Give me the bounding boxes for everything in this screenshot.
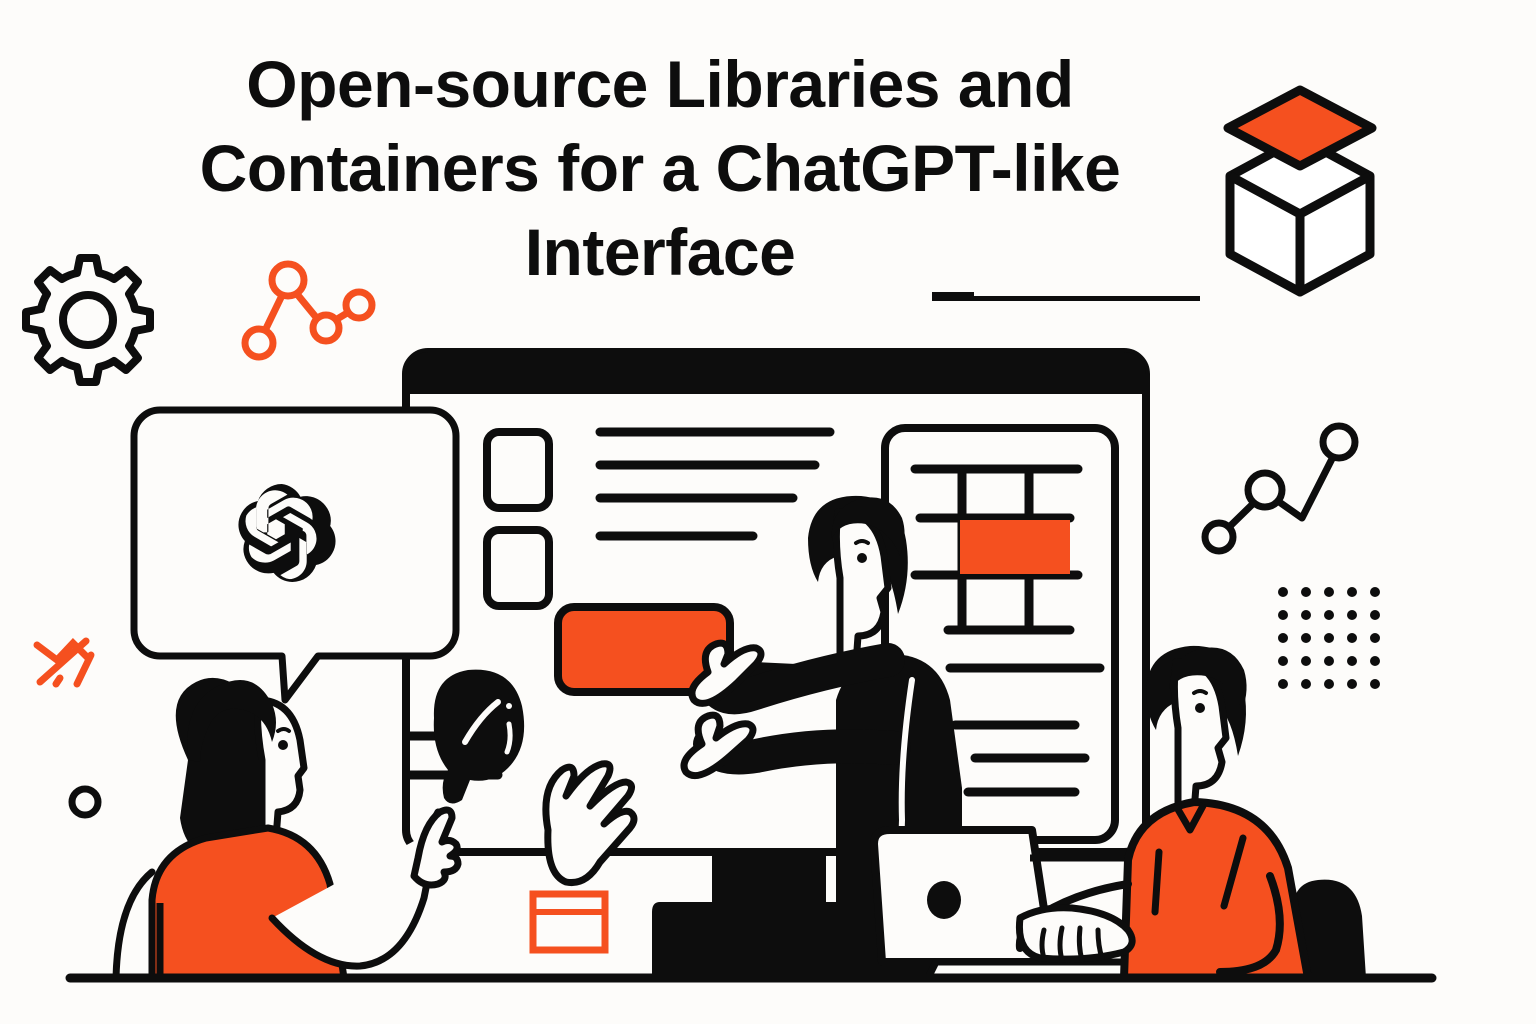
circle-outline-icon xyxy=(72,789,98,815)
grid-highlight-cell xyxy=(960,520,1070,574)
illustration-canvas: Open-source Libraries and Containers for… xyxy=(0,0,1536,1024)
checkbox-placeholder xyxy=(487,530,549,606)
browser-window-icon xyxy=(533,894,605,950)
gesturing-hand xyxy=(546,764,634,883)
page-title-line-3: Interface xyxy=(150,210,1170,294)
node-graph-icon xyxy=(1205,426,1355,551)
container-box-icon xyxy=(1228,90,1372,292)
page-title-line-1: Open-source Libraries and xyxy=(150,42,1170,126)
checkbox-placeholder xyxy=(487,432,549,508)
page-title-line-2: Containers for a ChatGPT-like xyxy=(150,126,1170,210)
page-title: Open-source Libraries and Containers for… xyxy=(150,42,1170,294)
openai-speech-bubble xyxy=(134,410,456,700)
dot-grid-icon xyxy=(1278,587,1380,689)
circle-logo xyxy=(927,881,961,919)
sparkle-mark-icon xyxy=(37,641,91,684)
gear-icon xyxy=(26,258,150,382)
